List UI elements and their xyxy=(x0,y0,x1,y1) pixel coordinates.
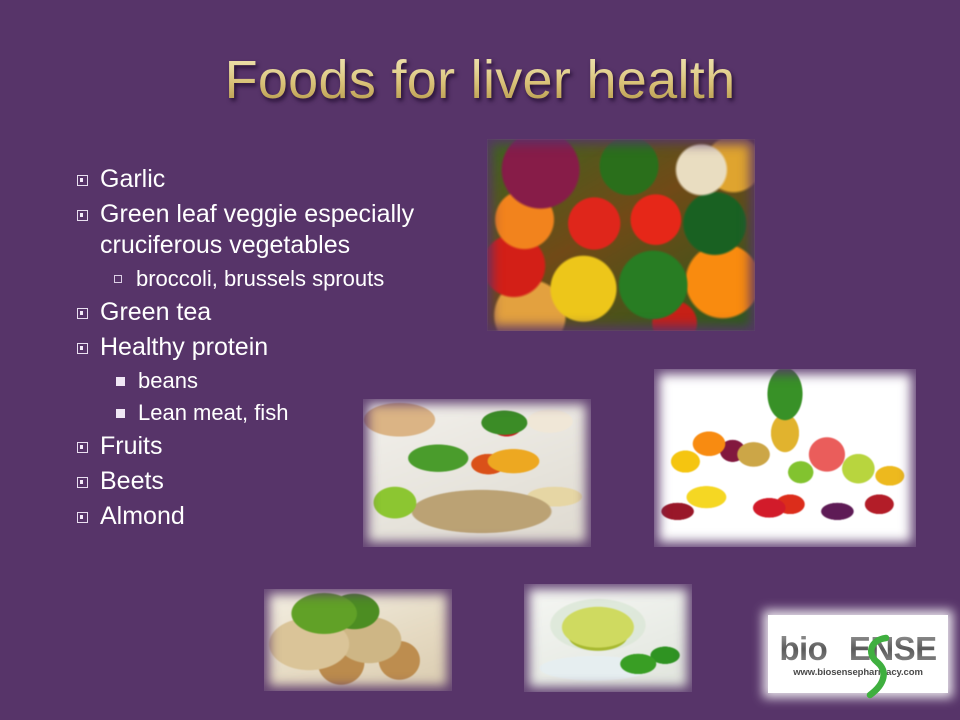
slide-canvas: Foods for liver health Garlic Green leaf… xyxy=(0,0,960,720)
biosense-url: www.biosensepharmacy.com xyxy=(793,667,923,678)
list-item: broccoli, brussels sprouts xyxy=(64,265,484,293)
square-solid-bullet-icon xyxy=(102,367,138,386)
square-ring-bullet-icon xyxy=(64,431,100,453)
list-item-label: Garlic xyxy=(100,164,484,195)
green-tea-photo xyxy=(524,584,692,692)
biosense-logo[interactable]: bioSENSE www.biosensepharmacy.com xyxy=(768,615,948,693)
list-item: Beets xyxy=(64,466,484,497)
square-ring-bullet-icon xyxy=(64,466,100,488)
square-solid-bullet-icon xyxy=(102,399,138,418)
almonds-photo-art xyxy=(264,589,452,691)
list-item-label: broccoli, brussels sprouts xyxy=(136,265,484,293)
bullet-list: Garlic Green leaf veggie especially cruc… xyxy=(64,164,484,536)
biosense-wordmark: bioSENSE xyxy=(779,632,936,666)
list-item-label: Lean meat, fish xyxy=(138,399,484,427)
list-item: beans xyxy=(64,367,484,395)
square-ring-bullet-icon xyxy=(64,297,100,319)
list-item-label: Beets xyxy=(100,466,484,497)
biosense-wordmark-suffix: ENSE xyxy=(849,630,937,667)
square-hollow-bullet-icon xyxy=(100,265,136,283)
square-ring-bullet-icon xyxy=(64,199,100,221)
list-item-label: Healthy protein xyxy=(100,332,484,363)
fruits-photo-art xyxy=(654,369,916,547)
list-item: Almond xyxy=(64,501,484,532)
list-item: Green leaf veggie especially cruciferous… xyxy=(64,199,484,261)
square-ring-bullet-icon xyxy=(64,332,100,354)
almonds-photo xyxy=(264,589,452,691)
square-ring-bullet-icon xyxy=(64,164,100,186)
list-item-label: Green tea xyxy=(100,297,484,328)
list-item-label: Fruits xyxy=(100,431,484,462)
list-item: Healthy protein xyxy=(64,332,484,363)
list-item-label: Green leaf veggie especially cruciferous… xyxy=(100,199,484,261)
square-ring-bullet-icon xyxy=(64,501,100,523)
vegetables-photo-art xyxy=(487,139,755,331)
green-tea-photo-art xyxy=(524,584,692,692)
slide-title: Foods for liver health xyxy=(0,52,960,109)
list-item: Fruits xyxy=(64,431,484,462)
vegetables-photo xyxy=(487,139,755,331)
list-item-label: beans xyxy=(138,367,484,395)
biosense-logo-content: bioSENSE www.biosensepharmacy.com xyxy=(768,615,948,693)
list-item-label: Almond xyxy=(100,501,484,532)
list-item: Green tea xyxy=(64,297,484,328)
list-item: Garlic xyxy=(64,164,484,195)
fruits-photo xyxy=(654,369,916,547)
list-item: Lean meat, fish xyxy=(64,399,484,427)
biosense-wordmark-prefix: bio xyxy=(779,630,827,667)
